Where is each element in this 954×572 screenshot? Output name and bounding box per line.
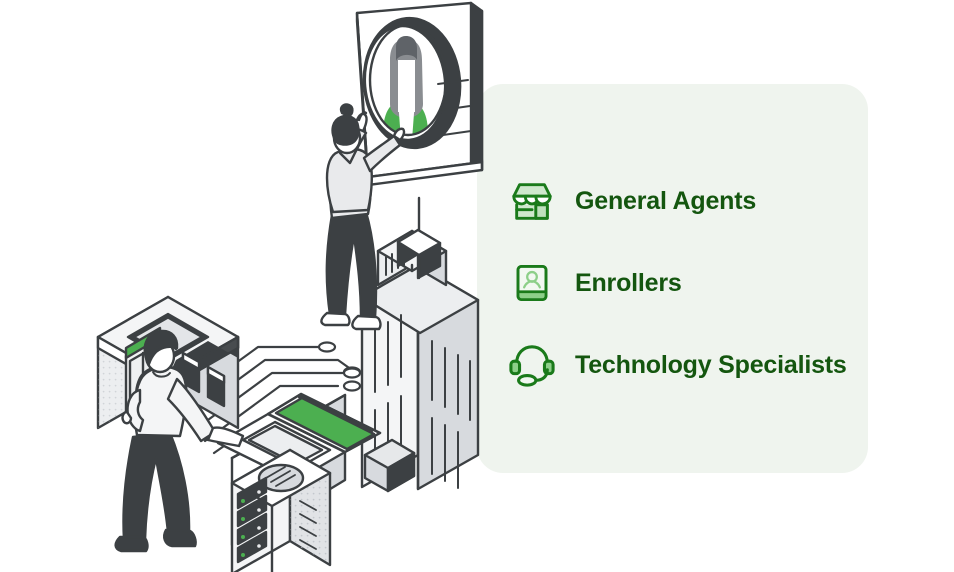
legend-label-technology-specialists: Technology Specialists xyxy=(575,351,847,380)
legend-item-general-agents[interactable]: General Agents xyxy=(507,160,867,242)
legend-item-enrollers[interactable]: Enrollers xyxy=(507,242,867,324)
storefront-icon xyxy=(507,176,557,226)
legend-list: General Agents Enrollers xyxy=(507,160,867,406)
id-card-person-icon xyxy=(507,258,557,308)
legend-label-enrollers: Enrollers xyxy=(575,269,682,298)
illustration-stage: General Agents Enrollers xyxy=(0,0,954,572)
legend-item-technology-specialists[interactable]: Technology Specialists xyxy=(507,324,867,406)
legend-label-general-agents: General Agents xyxy=(575,187,756,216)
headset-icon xyxy=(507,340,557,390)
office-tower-building xyxy=(362,198,478,491)
